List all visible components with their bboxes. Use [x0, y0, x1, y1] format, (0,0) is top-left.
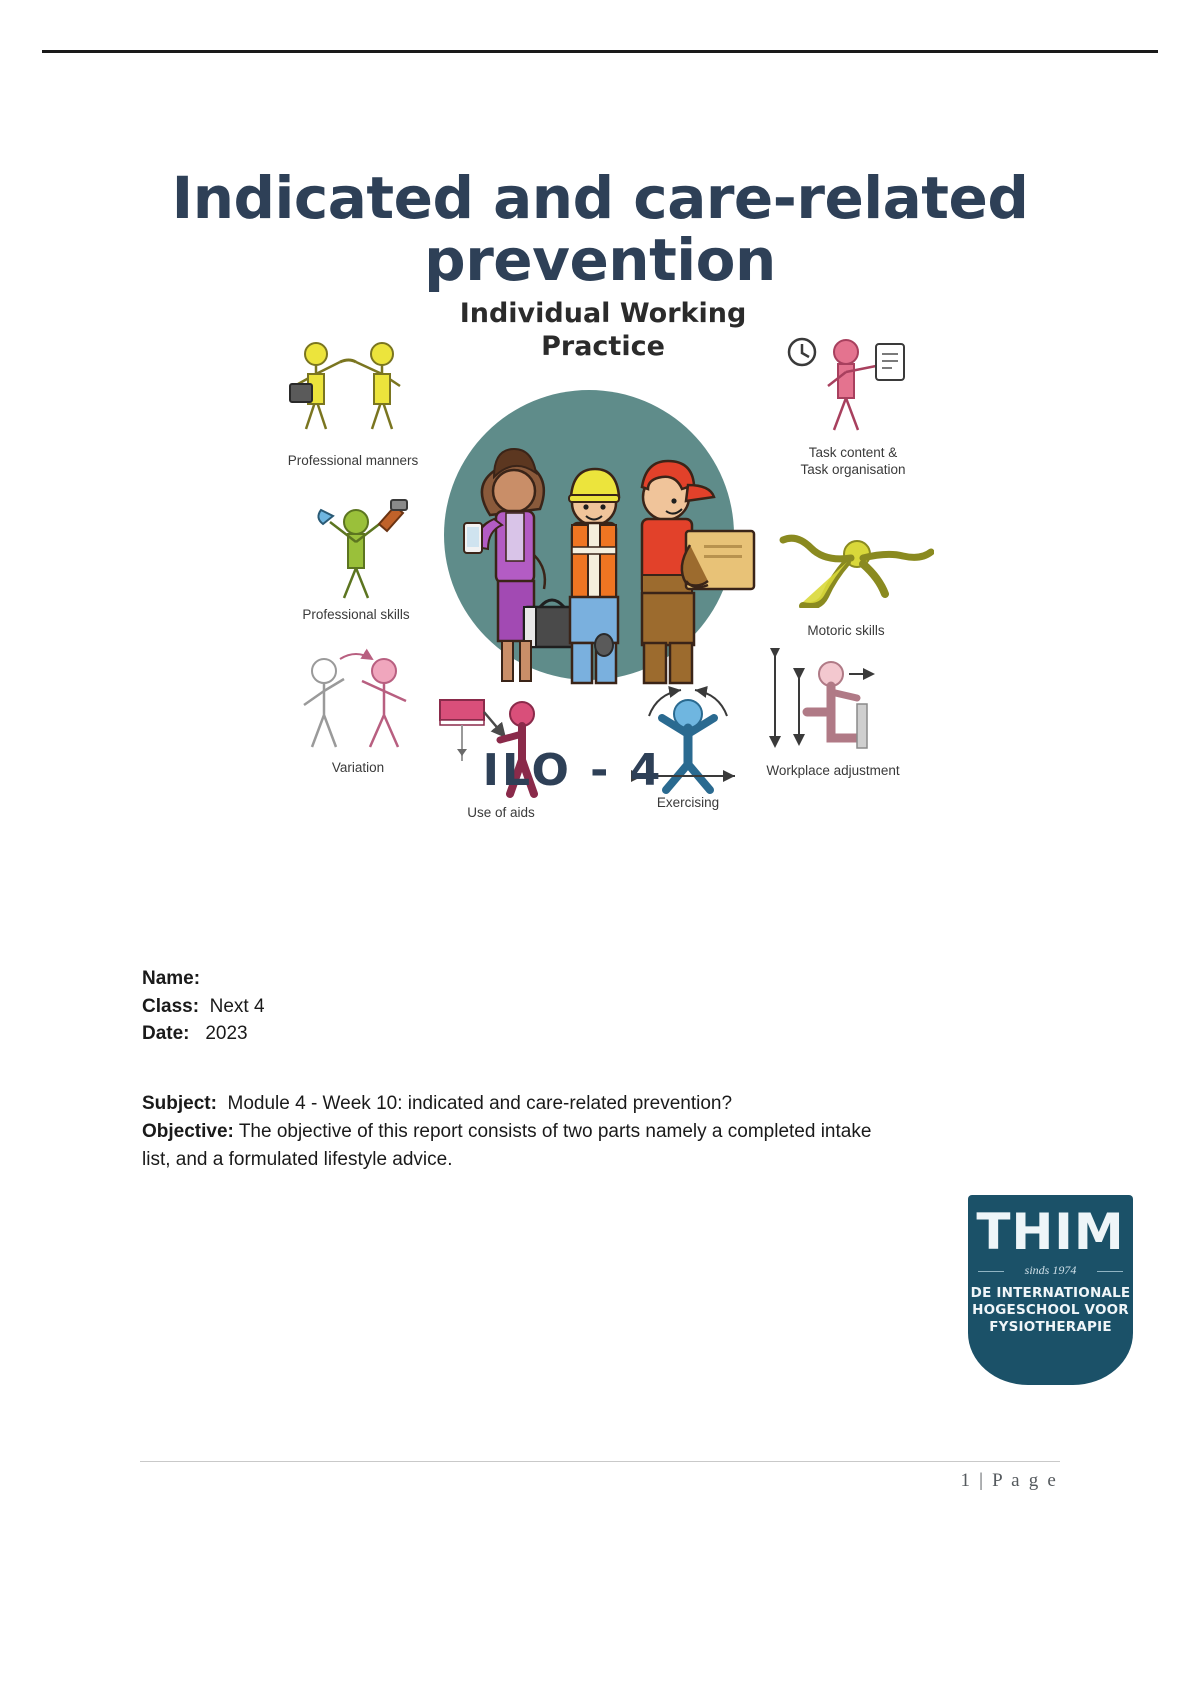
meta-row-class: Class: Next 4 [142, 993, 265, 1021]
page-title: Indicated and care-related prevention [120, 167, 1080, 292]
ilo-overlay-text: ILO - 4 [448, 745, 698, 796]
construction-worker-figure [569, 469, 619, 683]
spoke-professional-skills: Professional skills [266, 492, 446, 624]
date-label: Date: [142, 1023, 190, 1044]
logo-brand-text: THIM [968, 1207, 1133, 1257]
subject-row: Subject: Module 4 - Week 10: indicated a… [142, 1090, 902, 1118]
spoke-caption: Motoric skills [746, 623, 946, 640]
spoke-professional-manners: Professional manners [258, 338, 448, 470]
header-rule [42, 50, 1158, 53]
footer-page-number: 1 | P a g e [961, 1470, 1058, 1492]
professional-manners-icon [258, 338, 448, 450]
class-label: Class: [142, 996, 199, 1017]
objective-label: Objective: [142, 1121, 234, 1142]
meta-fields: Name: Class: Next 4 Date: 2023 [142, 965, 265, 1048]
individual-working-practice-illustration: Individual Working Practice [248, 290, 952, 875]
businesswoman-figure [464, 449, 582, 681]
logo-since-text: sinds 1974 [968, 1263, 1133, 1278]
spoke-motoric-skills: Motoric skills [746, 508, 946, 640]
motoric-skills-icon [746, 508, 946, 620]
thim-logo: THIM sinds 1974 DE INTERNATIONALE HOGESC… [968, 1195, 1133, 1385]
logo-subtitle-text: DE INTERNATIONALE HOGESCHOOL VOOR FYSIOT… [968, 1285, 1133, 1336]
objective-row: Objective: The objective of this report … [142, 1118, 902, 1174]
class-value[interactable]: Next 4 [210, 996, 265, 1017]
subject-value[interactable]: Module 4 - Week 10: indicated and care-r… [228, 1093, 733, 1114]
spoke-caption: Use of aids [416, 805, 586, 822]
document-page: Indicated and care-related prevention In… [0, 0, 1200, 1700]
meta-row-date: Date: 2023 [142, 1020, 265, 1048]
footer-rule [140, 1461, 1060, 1462]
spoke-caption: Professional manners [258, 453, 448, 470]
meta-row-name: Name: [142, 965, 265, 993]
spoke-caption: Professional skills [266, 607, 446, 624]
illustration-title: Individual Working Practice [428, 298, 778, 364]
name-label: Name: [142, 968, 200, 989]
date-value[interactable]: 2023 [205, 1023, 247, 1044]
professional-skills-icon [266, 492, 446, 604]
task-content-icon [753, 330, 953, 442]
objective-value[interactable]: The objective of this report consists of… [142, 1121, 871, 1170]
subject-objective-block: Subject: Module 4 - Week 10: indicated a… [142, 1090, 902, 1174]
spoke-task-content: Task content & Task organisation [753, 330, 953, 479]
subject-label: Subject: [142, 1093, 217, 1114]
three-workers-figure [428, 395, 758, 725]
spoke-caption: Task content & Task organisation [753, 445, 953, 479]
